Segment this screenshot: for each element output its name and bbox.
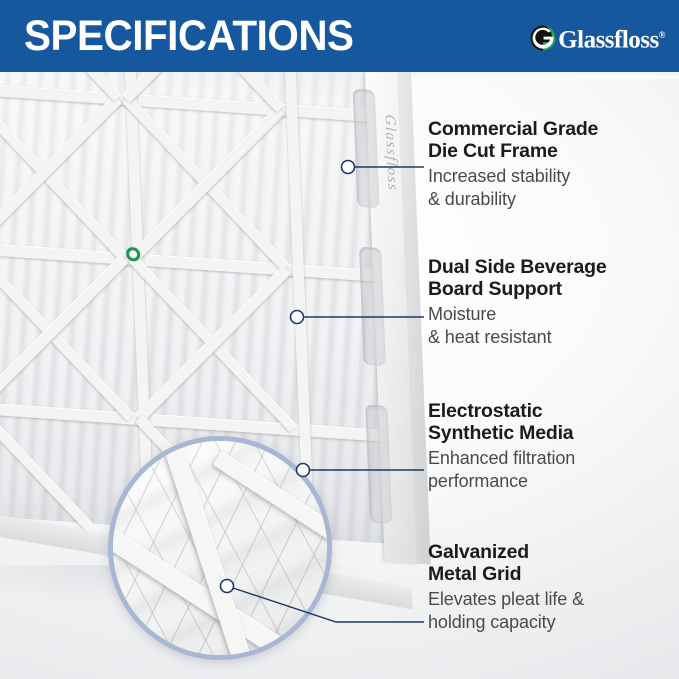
glassfloss-g-mark (530, 25, 556, 51)
callout-title: Dual Side Beverage Board Support (428, 256, 674, 300)
callout-title: Commercial Grade Die Cut Frame (428, 118, 674, 162)
callout-subtitle: Moisture & heat resistant (428, 303, 674, 349)
header-bar: SPECIFICATIONS Glassfloss® (0, 0, 679, 72)
page-title: SPECIFICATIONS (24, 11, 354, 61)
callout-title: Galvanized Metal Grid (428, 541, 674, 585)
callout-title: Electrostatic Synthetic Media (428, 400, 674, 444)
callout-subtitle: Elevates pleat life & holding capacity (428, 588, 674, 634)
callout-galvanized-metal-grid: Galvanized Metal Grid Elevates pleat lif… (428, 541, 674, 634)
glassfloss-logo: Glassfloss® (530, 24, 665, 52)
callout-dual-side-beverage-board-support: Dual Side Beverage Board Support Moistur… (428, 256, 674, 349)
callout-subtitle: Increased stability & durability (428, 165, 674, 211)
specifications-infographic: Glassfloss Commercial Grade Die Cut Fram… (0, 0, 679, 679)
filter-brand-emboss: Glassfloss (381, 114, 401, 192)
media-magnifier-circle (108, 436, 332, 660)
glassfloss-wordmark: Glassfloss® (558, 22, 665, 53)
callout-subtitle: Enhanced filtration performance (428, 447, 674, 493)
callout-commercial-grade-die-cut-frame: Commercial Grade Die Cut Frame Increased… (428, 118, 674, 211)
callout-electrostatic-synthetic-media: Electrostatic Synthetic Media Enhanced f… (428, 400, 674, 493)
